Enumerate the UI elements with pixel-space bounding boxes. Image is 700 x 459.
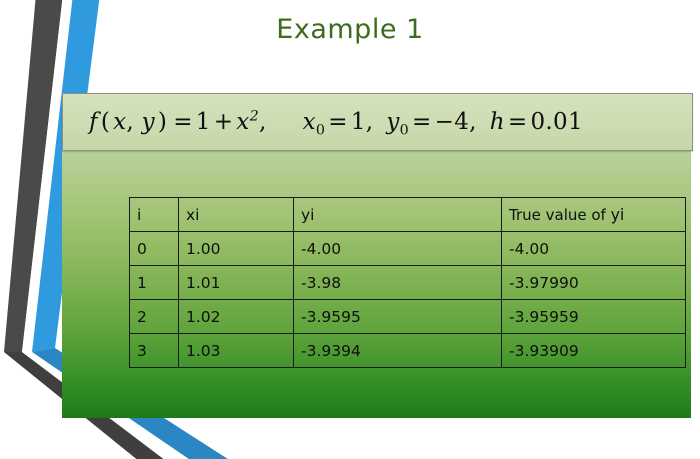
slide-canvas: Example 1 f(x, y)=1+x2,x0=1,y0=−4,h=0.01… [0, 0, 700, 459]
cell-true-yi: -3.93909 [502, 334, 686, 368]
cell-true-yi: -3.97990 [502, 266, 686, 300]
cell-true-yi: -4.00 [502, 232, 686, 266]
cell-yi: -3.98 [294, 266, 502, 300]
formula-equals-3: = [409, 109, 435, 135]
cell-true-yi: -3.95959 [502, 300, 686, 334]
formula-h-var: h [490, 109, 505, 135]
table-row: 2 1.02 -3.9595 -3.95959 [130, 300, 686, 334]
column-header-yi: yi [294, 198, 502, 232]
cell-i: 2 [130, 300, 179, 334]
cell-xi: 1.00 [179, 232, 294, 266]
formula-plus: + [211, 109, 237, 135]
cell-yi: -3.9394 [294, 334, 502, 368]
column-header-i: i [130, 198, 179, 232]
cell-i: 1 [130, 266, 179, 300]
table-row: 1 1.01 -3.98 -3.97990 [130, 266, 686, 300]
formula-equals-1: = [170, 109, 196, 135]
formula-arg-x: x [113, 109, 126, 135]
formula-y0-var: y [386, 109, 399, 135]
formula-y0-sub: 0 [400, 123, 409, 139]
formula-x0-var: x [303, 109, 316, 135]
table-row: 0 1.00 -4.00 -4.00 [130, 232, 686, 266]
formula-const: 1 [196, 109, 211, 135]
formula-exponent: 2 [250, 108, 259, 124]
cell-i: 3 [130, 334, 179, 368]
cell-i: 0 [130, 232, 179, 266]
formula-comma-3: , [469, 109, 477, 135]
cell-xi: 1.01 [179, 266, 294, 300]
formula-comma-2: , [366, 109, 374, 135]
true-value-prefix: True value of [509, 206, 611, 224]
formula-rhs-var: x [236, 109, 249, 135]
true-value-suffix: yi [611, 205, 625, 224]
formula-equals-2: = [325, 109, 351, 135]
table-header-row: i xi yi True value of yi [130, 198, 686, 232]
table-row: 3 1.03 -3.9394 -3.93909 [130, 334, 686, 368]
formula-x0-value: 1 [351, 109, 366, 135]
page-title: Example 1 [0, 14, 700, 45]
column-header-xi: xi [179, 198, 294, 232]
formula-box: f(x, y)=1+x2,x0=1,y0=−4,h=0.01 [62, 93, 693, 151]
results-table: i xi yi True value of yi 0 1.00 -4.00 -4… [129, 197, 686, 368]
cell-yi: -4.00 [294, 232, 502, 266]
formula-expression: f(x, y)=1+x2,x0=1,y0=−4,h=0.01 [89, 109, 583, 135]
formula-arg-y: y [142, 109, 155, 135]
formula-comma-1: , [259, 109, 267, 135]
cell-xi: 1.02 [179, 300, 294, 334]
formula-y0-value: −4 [435, 109, 470, 135]
cell-xi: 1.03 [179, 334, 294, 368]
column-header-true-value: True value of yi [502, 198, 686, 232]
formula-equals-4: = [505, 109, 531, 135]
formula-x0-sub: 0 [316, 123, 325, 139]
formula-function-name: f [89, 109, 98, 135]
cell-yi: -3.9595 [294, 300, 502, 334]
gray-stripe [4, 0, 63, 352]
formula-h-value: 0.01 [530, 109, 582, 135]
